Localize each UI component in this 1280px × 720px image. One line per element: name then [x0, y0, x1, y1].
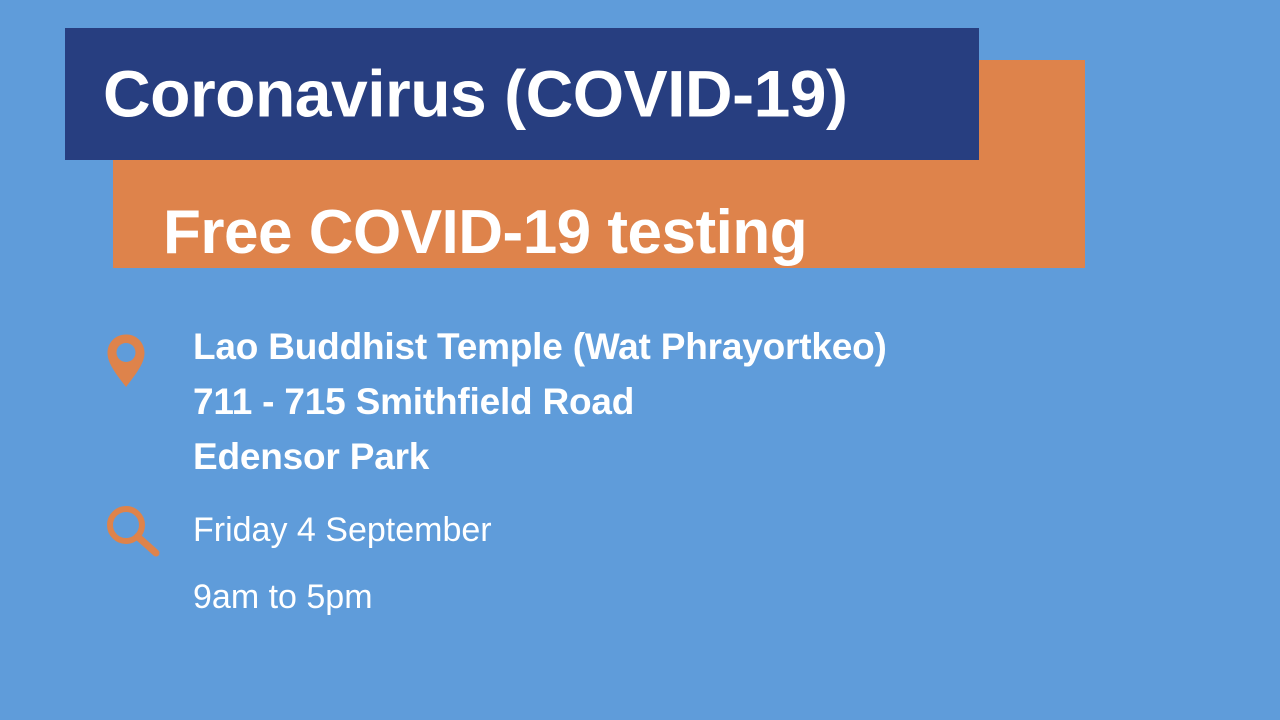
details-section: Lao Buddhist Temple (Wat Phrayortkeo) 71…: [0, 320, 1280, 630]
when-block: Friday 4 September 9am to 5pm: [193, 497, 492, 630]
venue-name: Lao Buddhist Temple (Wat Phrayortkeo): [193, 320, 887, 375]
when-row: Friday 4 September 9am to 5pm: [0, 497, 1280, 630]
location-icon-cell: [0, 320, 193, 390]
magnifier-icon: [105, 504, 161, 558]
when-icon-cell: [0, 497, 193, 558]
page-title: Coronavirus (COVID-19): [103, 59, 847, 128]
location-row: Lao Buddhist Temple (Wat Phrayortkeo) 71…: [0, 320, 1280, 484]
suburb: Edensor Park: [193, 430, 887, 485]
map-pin-icon: [105, 332, 147, 390]
title-banner: Coronavirus (COVID-19): [65, 28, 979, 160]
address-block: Lao Buddhist Temple (Wat Phrayortkeo) 71…: [193, 320, 887, 484]
testing-hours: 9am to 5pm: [193, 564, 492, 630]
testing-date: Friday 4 September: [193, 497, 492, 563]
subtitle-text: Free COVID-19 testing: [163, 200, 807, 265]
covid-testing-poster: Free COVID-19 testing Coronavirus (COVID…: [0, 0, 1280, 720]
street-address: 711 - 715 Smithfield Road: [193, 375, 887, 430]
